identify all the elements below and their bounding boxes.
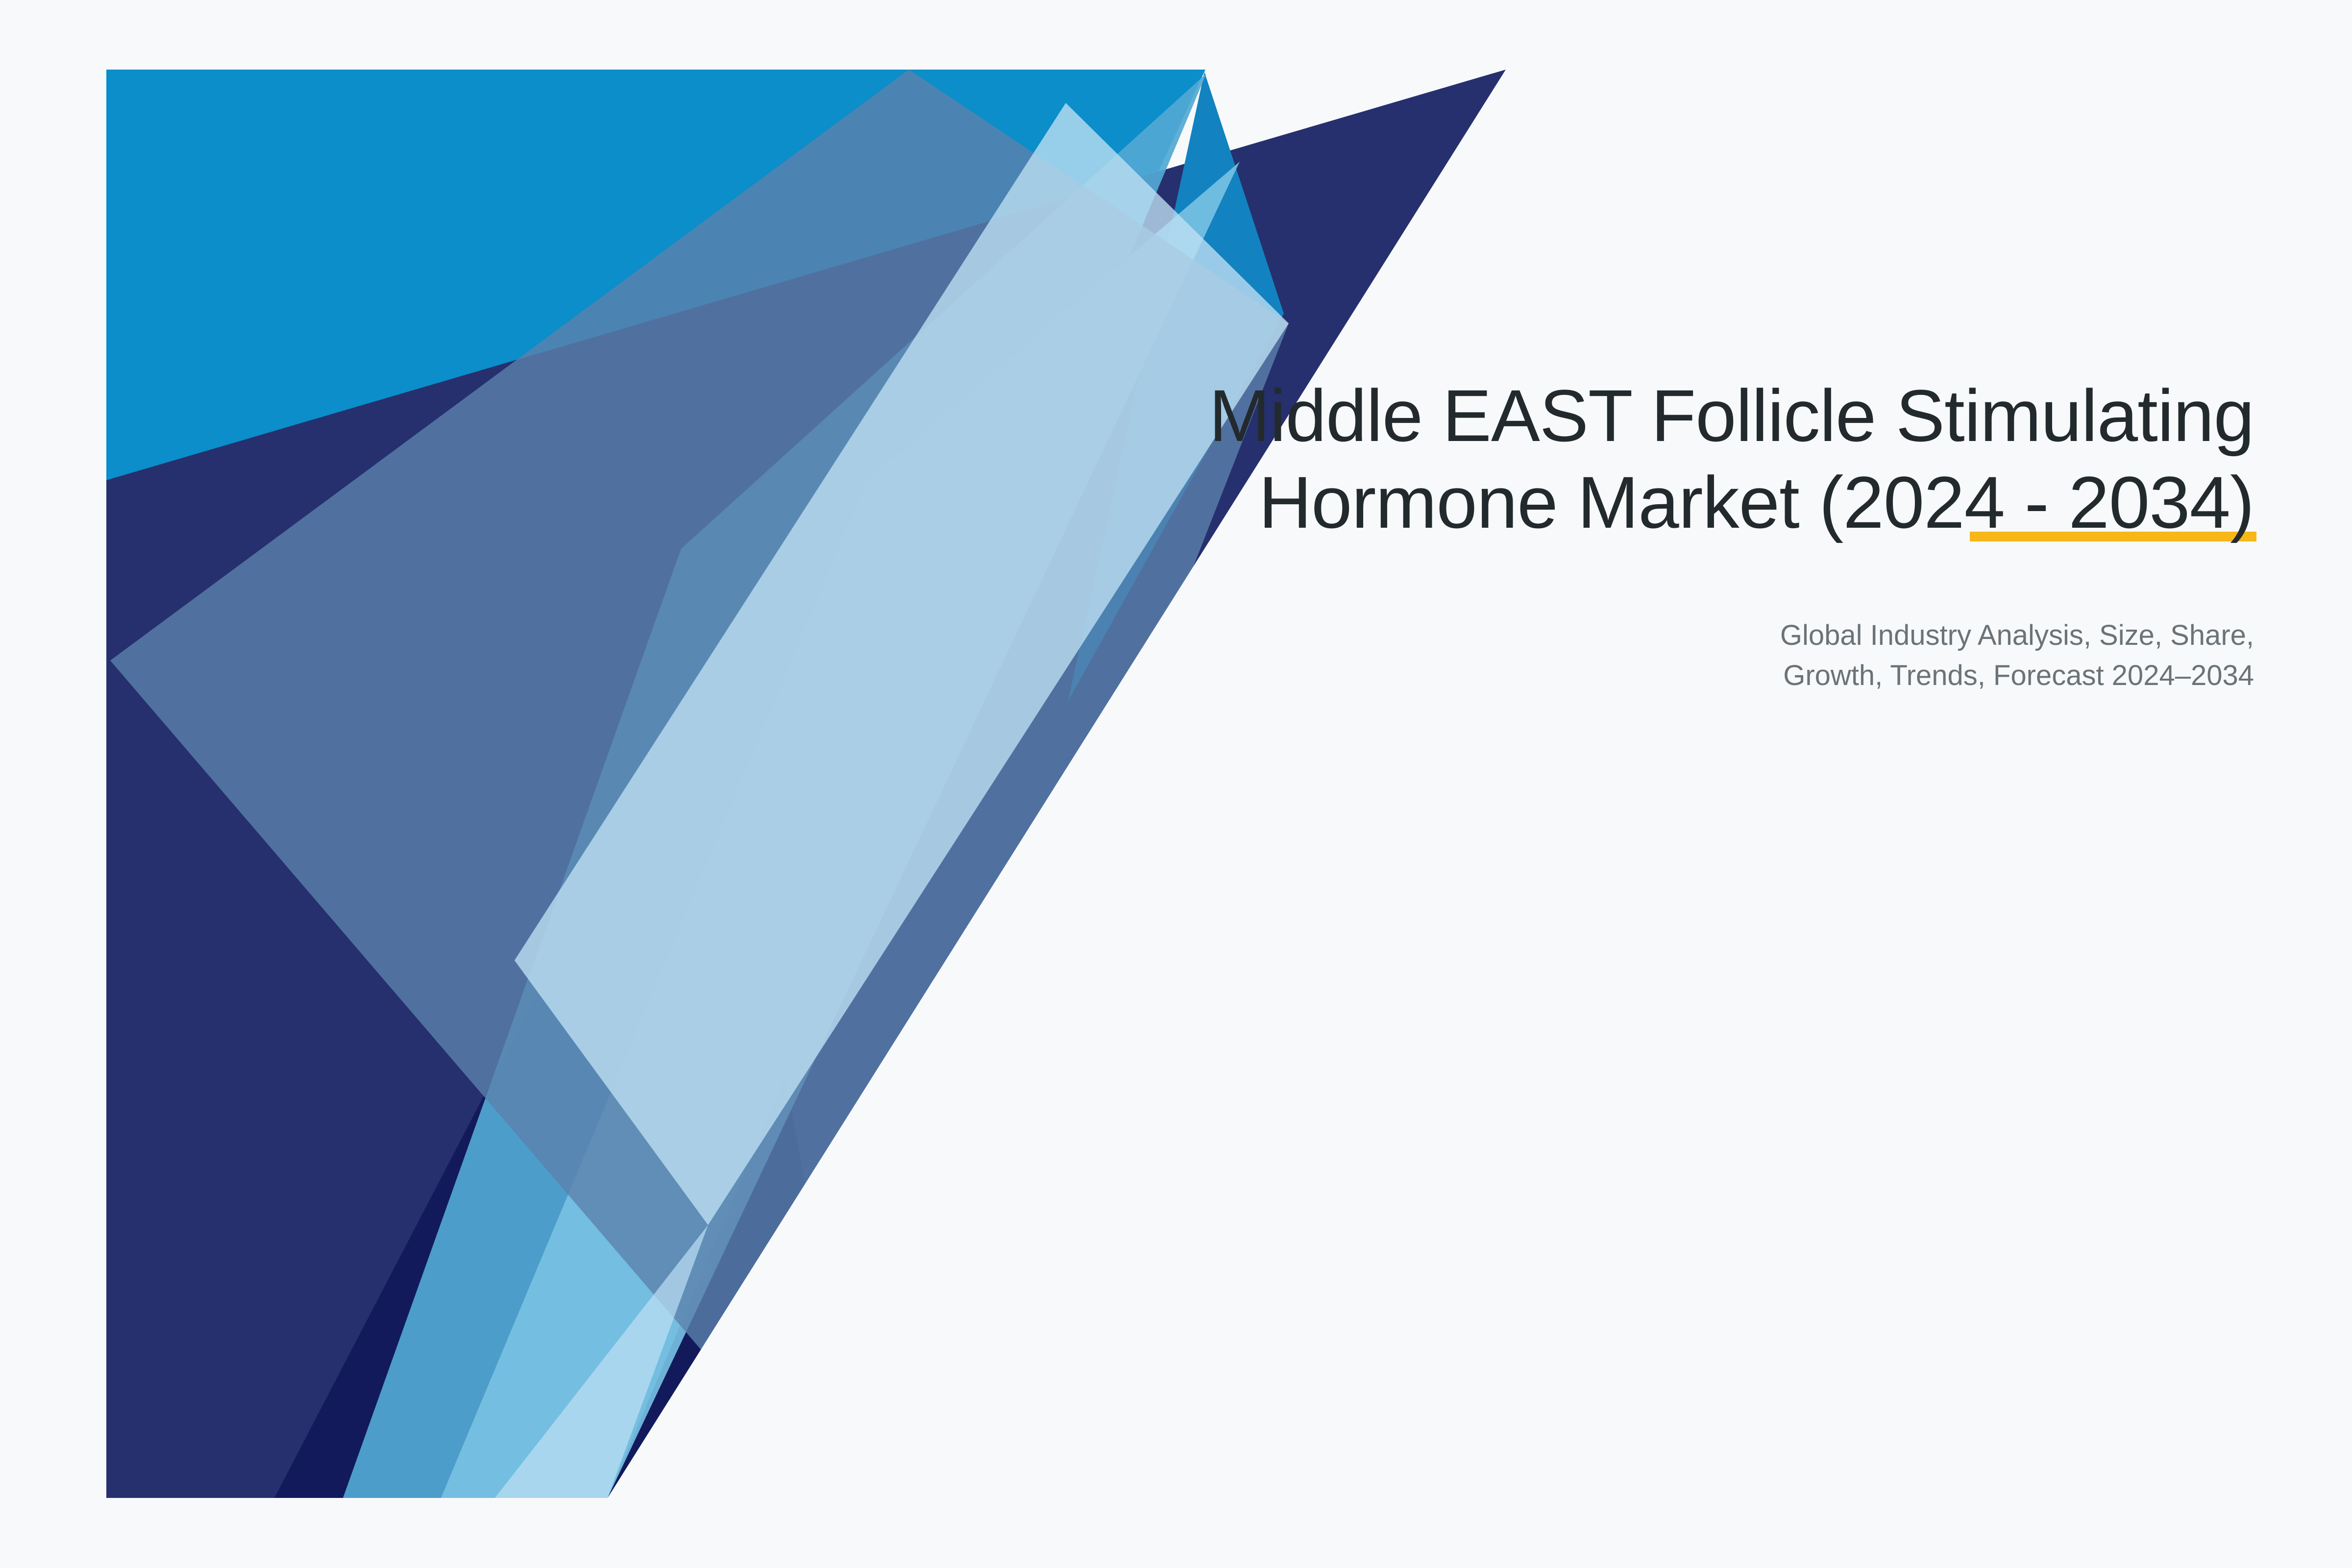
report-cover-page: Middle EAST Follicle Stimulating Hormone… [0, 0, 2352, 1568]
abstract-geometric-banner [0, 0, 2352, 1568]
cover-text-block: Middle EAST Follicle Stimulating Hormone… [882, 372, 2254, 696]
page-title: Middle EAST Follicle Stimulating Hormone… [882, 372, 2254, 546]
title-wrap: Middle EAST Follicle Stimulating Hormone… [882, 372, 2254, 546]
page-subtitle: Global Industry Analysis, Size, Share, G… [882, 546, 2254, 696]
